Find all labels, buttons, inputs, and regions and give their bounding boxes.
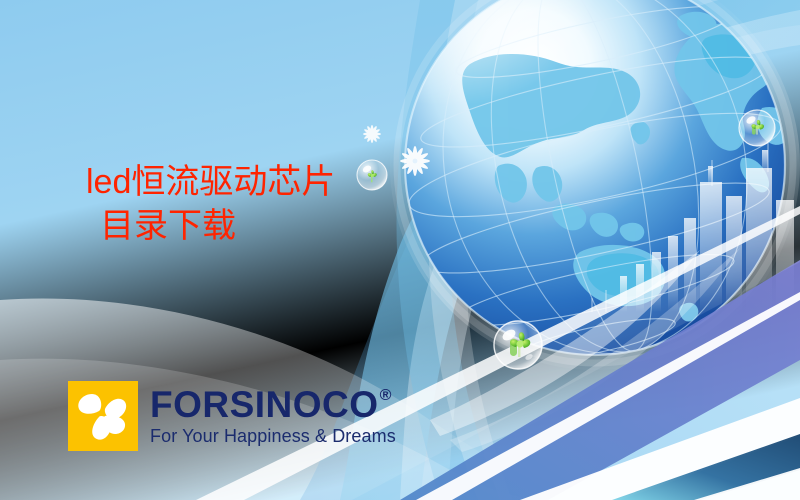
eco-bubble-small-left: [357, 160, 387, 190]
headline-line-2: 目录下载: [100, 204, 335, 248]
brand-tagline: For Your Happiness & Dreams: [150, 426, 396, 447]
registered-trademark-icon: ®: [380, 388, 392, 404]
four-petal-pinwheel-mark: [68, 381, 138, 451]
headline-text: led恒流驱动芯片 目录下载: [86, 160, 335, 248]
eco-bubble-top-right: [739, 110, 775, 146]
eco-bubble-center: [494, 321, 542, 369]
logo-text-block: FORSINOCO ® For Your Happiness & Dreams: [150, 386, 396, 447]
brand-row: FORSINOCO ®: [150, 386, 396, 423]
headline-line-1: led恒流驱动芯片: [86, 160, 335, 204]
company-logo: FORSINOCO ® For Your Happiness & Dreams: [68, 381, 396, 451]
brand-name: FORSINOCO: [150, 386, 379, 423]
promo-banner: led恒流驱动芯片 目录下载 FORSINOCO: [0, 0, 800, 500]
